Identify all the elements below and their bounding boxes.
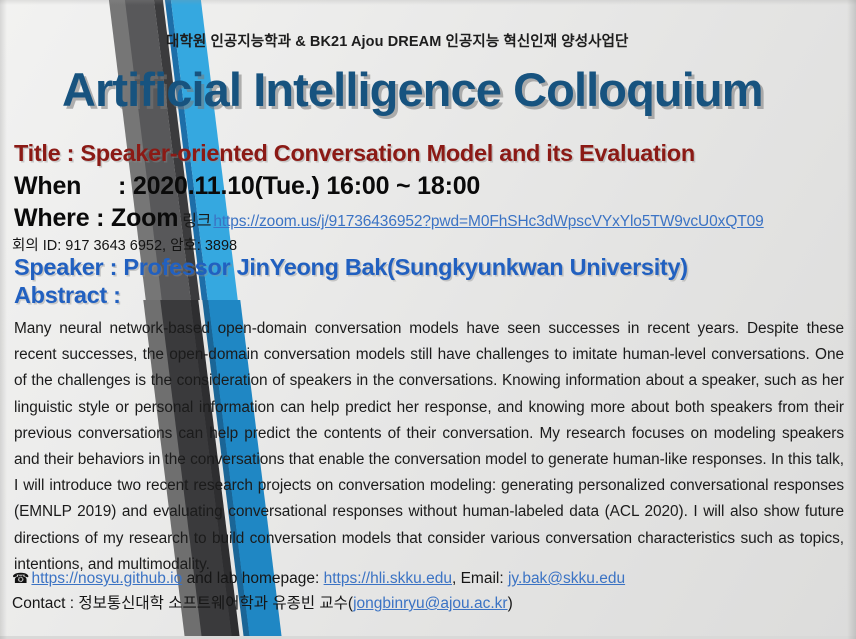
where-label: Where : Zoom xyxy=(14,204,178,232)
abstract-heading: Abstract : xyxy=(14,282,121,309)
speaker-line: Speaker : Professor JinYeong Bak(Sungkyu… xyxy=(14,254,688,281)
when-label: When xyxy=(14,172,118,201)
colloquium-poster: 대학원 인공지능학과 & BK21 Ajou DREAM 인공지능 혁신인재 양… xyxy=(0,0,856,639)
when-value: 2020.11.10(Tue.) 16:00 ~ 18:00 xyxy=(133,172,480,200)
where-line: Where : Zoom링크https://zoom.us/j/91736436… xyxy=(14,204,764,233)
when-line: When: 2020.11.10(Tue.) 16:00 ~ 18:00 xyxy=(14,172,480,201)
email-label: , Email: xyxy=(452,570,504,587)
personal-homepage-link[interactable]: https://nosyu.github.io xyxy=(31,570,182,587)
organization-line: 대학원 인공지능학과 & BK21 Ajou DREAM 인공지능 혁신인재 양… xyxy=(166,30,629,51)
page-title: Artificial Intelligence Colloquium xyxy=(62,62,763,117)
footer-links-row: ☎https://nosyu.github.io and lab homepag… xyxy=(12,566,848,591)
contact-email-link[interactable]: jongbinryu@ajou.ac.kr xyxy=(353,595,507,612)
zoom-meeting-link[interactable]: https://zoom.us/j/91736436952?pwd=M0FhSH… xyxy=(211,213,763,230)
when-separator: : xyxy=(118,172,133,200)
speaker-email-link[interactable]: jy.bak@skku.edu xyxy=(508,570,625,587)
meeting-id-info: 회의 ID: 917 3643 6952, 암호: 3898 xyxy=(12,234,237,255)
where-korean-suffix: 링크 xyxy=(178,213,211,230)
contact-suffix: ) xyxy=(508,595,513,612)
lab-homepage-link[interactable]: https://hli.skku.edu xyxy=(324,570,452,587)
poster-content: 대학원 인공지능학과 & BK21 Ajou DREAM 인공지능 혁신인재 양… xyxy=(0,0,856,639)
footer: ☎https://nosyu.github.io and lab homepag… xyxy=(12,566,848,616)
telephone-icon: ☎ xyxy=(12,570,31,586)
lab-homepage-label: and lab homepage: xyxy=(187,570,320,587)
abstract-body: Many neural network-based open-domain co… xyxy=(14,316,844,578)
talk-title: Title : Speaker-oriented Conversation Mo… xyxy=(14,140,695,167)
contact-prefix: Contact : 정보통신대학 소프트웨어학과 유종빈 교수( xyxy=(12,595,353,612)
contact-row: Contact : 정보통신대학 소프트웨어학과 유종빈 교수(jongbinr… xyxy=(12,591,848,616)
